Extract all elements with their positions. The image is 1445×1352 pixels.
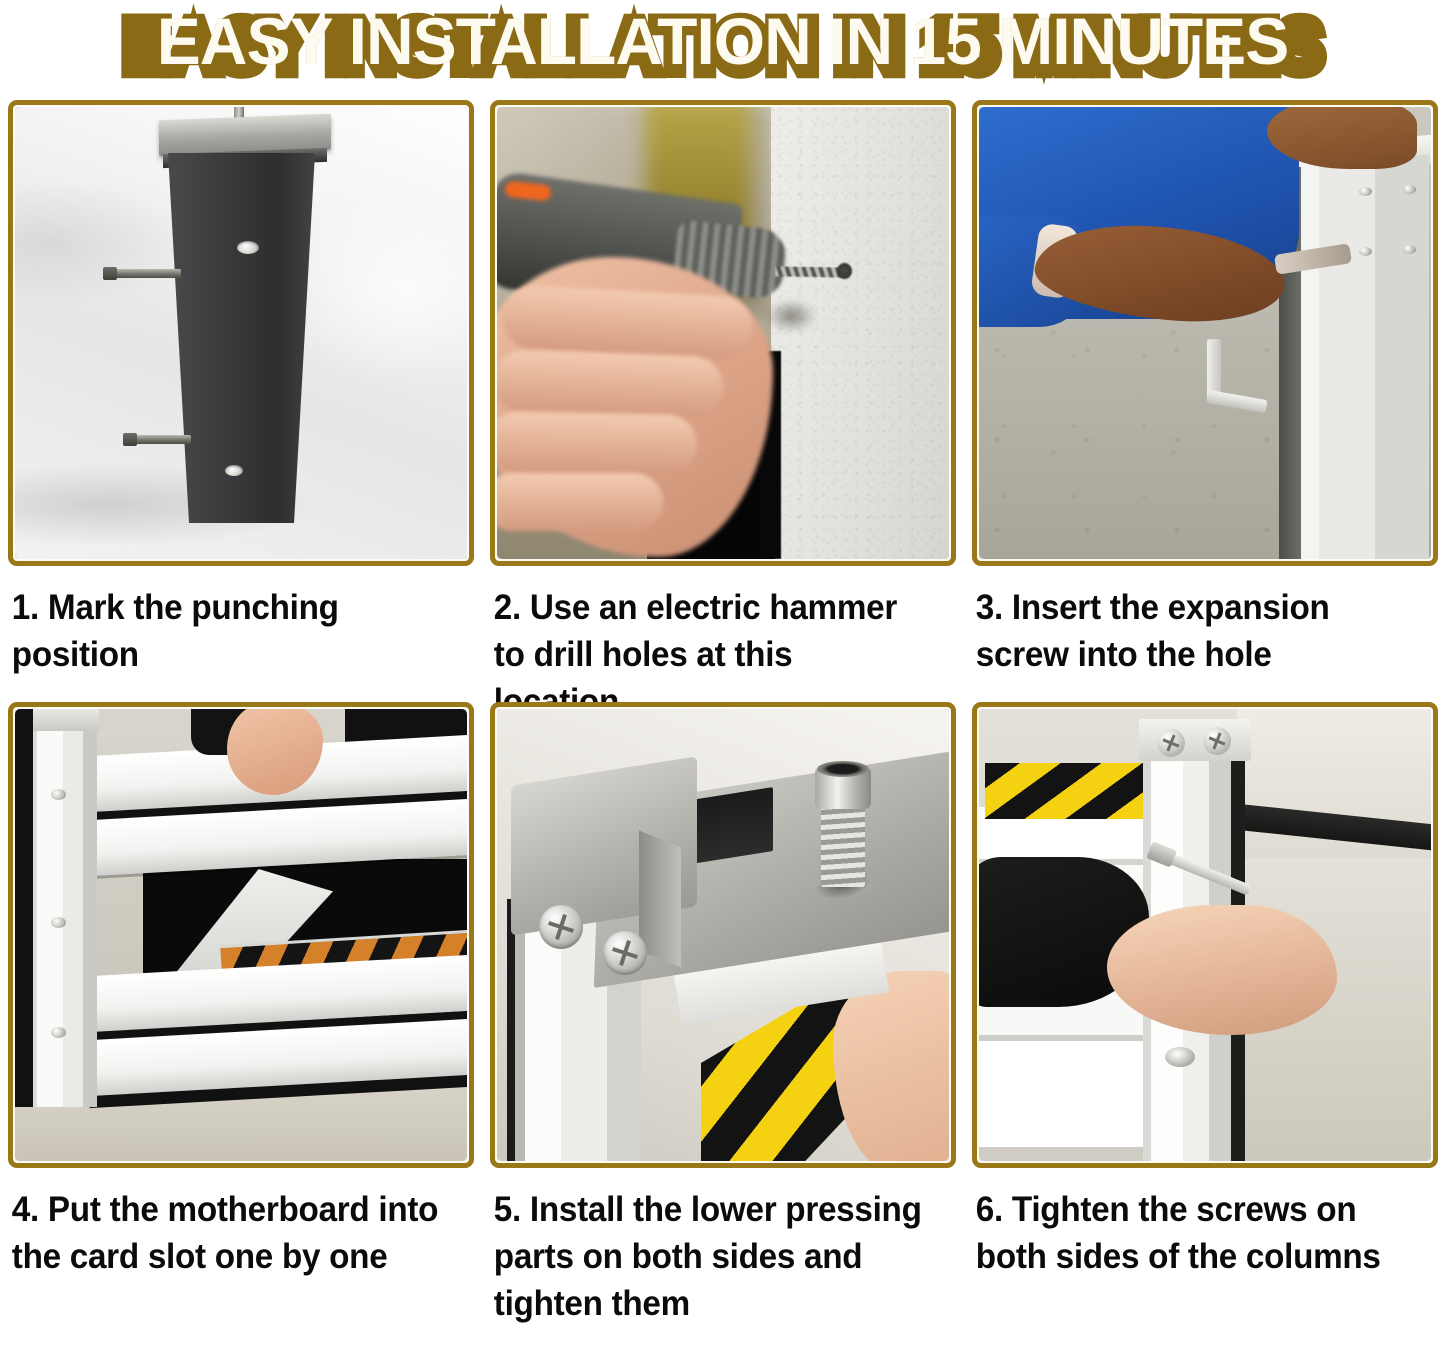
phillips-screw-icon xyxy=(1157,729,1185,757)
step-photo-2 xyxy=(490,100,956,566)
steps-row-bottom: 4. Put the motherboard into the card slo… xyxy=(8,702,1437,1326)
hex-bolt-socket xyxy=(817,761,869,777)
side-stud-lower xyxy=(131,435,191,444)
column-screw xyxy=(1165,1047,1195,1067)
column-shadow-edge xyxy=(15,709,33,1107)
hex-key-icon xyxy=(1207,339,1221,401)
step-photo-6 xyxy=(972,702,1438,1168)
column-screw xyxy=(51,917,66,928)
column-screw xyxy=(1403,245,1416,254)
column-screw xyxy=(1359,247,1372,256)
bolt-thread-icon xyxy=(821,805,865,887)
white-column-post xyxy=(1279,155,1429,559)
step-card-1: 1. Mark the punching position xyxy=(8,100,474,702)
step-caption-6: 6. Tighten the screws on both sides of t… xyxy=(972,1168,1415,1326)
step-caption-3: 3. Insert the expansion screw into the h… xyxy=(972,566,1415,702)
phillips-screw-icon xyxy=(539,905,583,949)
step-photo-1 xyxy=(8,100,474,566)
hazard-stripe-tape xyxy=(985,763,1147,819)
column-top-cap xyxy=(27,709,99,731)
drilled-hole xyxy=(837,263,852,279)
finger xyxy=(497,349,724,419)
step-photo-4 xyxy=(8,702,474,1168)
steps-grid: 1. Mark the punching position xyxy=(0,100,1445,1326)
header-banner: EASY INSTALLATION IN 15 MINUTES EASY INS… xyxy=(0,0,1445,100)
side-stud-upper xyxy=(111,269,181,278)
bracket-hole-upper xyxy=(237,241,259,254)
step-card-3: 3. Insert the expansion screw into the h… xyxy=(972,100,1438,702)
step-caption-2: 2. Use an electric hammer to drill holes… xyxy=(490,566,933,702)
bracket-hole-lower xyxy=(225,465,243,476)
finger xyxy=(497,411,698,475)
column-screw xyxy=(51,789,66,800)
phillips-screw-icon xyxy=(603,931,647,975)
drill-dust xyxy=(765,299,817,333)
column-screw xyxy=(51,1027,66,1038)
page-title: EASY INSTALLATION IN 15 MINUTES EASY INS… xyxy=(157,2,1288,80)
step-card-4: 4. Put the motherboard into the card slo… xyxy=(8,702,474,1326)
step-caption-4: 4. Put the motherboard into the card slo… xyxy=(8,1168,451,1326)
page-title-text: EASY INSTALLATION IN 15 MINUTES xyxy=(157,4,1288,78)
step-card-2: 2. Use an electric hammer to drill holes… xyxy=(490,100,956,702)
phillips-screw-icon xyxy=(1203,727,1231,755)
steps-row-top: 1. Mark the punching position xyxy=(8,100,1437,702)
step-caption-5: 5. Install the lower pressing parts on b… xyxy=(490,1168,933,1326)
step-photo-5 xyxy=(490,702,956,1168)
white-column-post xyxy=(29,709,97,1107)
column-screw xyxy=(1403,185,1416,194)
column-screw xyxy=(1359,187,1372,196)
column-top-cap xyxy=(1139,719,1251,761)
step-caption-1: 1. Mark the punching position xyxy=(8,566,451,702)
hand-supporting-part xyxy=(833,971,949,1161)
finger xyxy=(497,473,663,531)
step-photo-3 xyxy=(972,100,1438,566)
textured-wall-surface xyxy=(771,107,949,559)
step-card-5: 5. Install the lower pressing parts on b… xyxy=(490,702,956,1326)
step-card-6: 6. Tighten the screws on both sides of t… xyxy=(972,702,1438,1326)
